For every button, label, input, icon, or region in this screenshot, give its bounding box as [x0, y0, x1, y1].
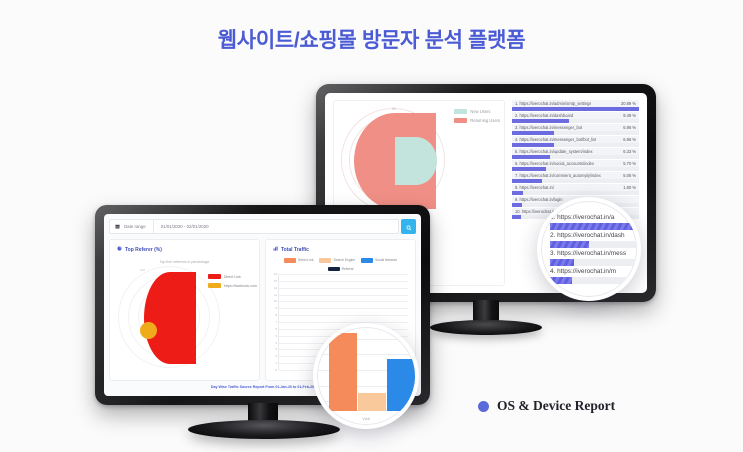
page-bar-fill: [512, 107, 639, 111]
top-referer-card: Top Referer (%) Top five referrers in pe…: [109, 239, 260, 381]
page-bar-fill: [512, 191, 523, 195]
magnified-bar-track: [550, 241, 636, 248]
page-percent: 5.70 %: [619, 161, 636, 166]
search-button[interactable]: [401, 219, 416, 234]
magnified-list-item: 2. https://iverochat.in/dash: [550, 232, 637, 248]
magnified-bar-fill: [550, 223, 636, 230]
card-title: Top Referer (%): [125, 247, 162, 253]
y-tick: 6: [275, 327, 277, 331]
y-tick: 12: [274, 286, 277, 290]
magnified-bar-fill: [550, 277, 572, 284]
y-axis: 14 13 12 11 10 9 8 7 6 5 4 3 2: [268, 274, 278, 370]
magnified-list-item: 4. https://iverochat.in/m: [550, 268, 637, 284]
y-tick: 11: [274, 293, 277, 297]
search-icon: [406, 218, 412, 236]
legend-item-direct-link: Direct Link: [284, 258, 314, 263]
donut-tick-label: 50: [392, 107, 396, 111]
back-monitor-base: [430, 320, 542, 335]
calendar-icon: [115, 224, 120, 230]
page-bar-track: [512, 179, 639, 183]
page-percent: 1.80 %: [619, 185, 636, 190]
legend-swatch-new-users: [454, 109, 467, 114]
magnifier-total-traffic: Visit: [313, 323, 419, 429]
facebook-slice: [140, 322, 157, 339]
pie-chart-icon: [117, 246, 122, 253]
magnified-bar-fill: [550, 241, 589, 248]
legend-label-search-engine: Search Engine: [333, 258, 355, 262]
visitors-legend: New Users Returning Users: [454, 109, 500, 127]
y-tick: 0: [275, 368, 277, 372]
page-bar-fill: [512, 179, 542, 183]
magnified-bar-search-engine: [358, 393, 386, 411]
legend-label-social-network: Social Network: [375, 258, 397, 262]
date-range-label: Date range: [124, 224, 146, 229]
legend-swatch-returning-users: [454, 118, 467, 123]
screenshot-root: 웹사이트/쇼핑몰 방문자 분석 플랫폼 50: [0, 0, 743, 452]
page-url: 2. https://iverochat.in/dashboard: [515, 113, 573, 118]
legend-label-facebook: https://facebook.com: [224, 284, 257, 288]
y-tick: 2: [275, 354, 277, 358]
legend-item-facebook: https://facebook.com: [208, 283, 257, 288]
page-url: 7. https://iverochat.in/comment_autorepl…: [515, 173, 601, 178]
y-tick: 13: [274, 279, 277, 283]
y-tick: 10: [274, 299, 277, 303]
magnifier-top-pages: 1. https://iverochat.in/a 2. https://ive…: [537, 197, 641, 301]
page-url: 4. https://iverochat.in/messenger_bot/bo…: [515, 137, 596, 142]
table-row[interactable]: 4. https://iverochat.in/messenger_bot/bo…: [512, 136, 639, 147]
date-range-value: 01/01/2020 - 02/01/2020: [161, 224, 209, 229]
table-row[interactable]: 1. https://iverochat.in/admin/smtp_setti…: [512, 100, 639, 111]
legend-item-direct-link: Direct Link: [208, 274, 257, 279]
magnified-url: 1. https://iverochat.in/a: [550, 214, 637, 221]
legend-swatch-social-network: [361, 258, 373, 263]
magnified-axis-label: Visit: [362, 416, 369, 421]
page-bar-fill: [512, 215, 521, 219]
date-range-input[interactable]: Date range 01/01/2020 - 02/01/2020: [109, 219, 399, 234]
legend-item-returning-users: Returning Users: [454, 118, 500, 123]
page-percent: 6.96 %: [619, 137, 636, 142]
page-bar-fill: [512, 155, 550, 159]
magnified-url: 4. https://iverochat.in/m: [550, 268, 637, 275]
page-url: 9. https://iverochat.in/login: [515, 197, 563, 202]
table-row[interactable]: 5. https://iverochat.in/update_system/in…: [512, 148, 639, 159]
y-tick: 5: [275, 334, 277, 338]
table-row[interactable]: 6. https://iverochat.in/social_accounts/…: [512, 160, 639, 171]
legend-swatch-referral: [328, 267, 340, 272]
magnified-bar-track: [550, 277, 636, 284]
legend-item-referral: Referral: [328, 267, 354, 272]
page-percent: 20.89 %: [617, 101, 636, 106]
bar-chart-icon: [273, 246, 278, 253]
page-bar-track: [512, 155, 639, 159]
os-device-report-caption: OS & Device Report: [478, 398, 615, 414]
pie-tick-label: 100: [140, 268, 145, 272]
page-bar-track: [512, 143, 639, 147]
total-traffic-legend: Direct Link Search Engine Social Network: [273, 258, 408, 271]
new-vs-returning-donut: 50: [340, 107, 450, 217]
page-percent: 9.49 %: [619, 113, 636, 118]
page-bar-fill: [512, 131, 554, 135]
magnified-bar-track: [550, 259, 636, 266]
card-title: Total Traffic: [281, 247, 309, 253]
page-bar-fill: [512, 167, 546, 171]
direct-link-slice: [144, 272, 196, 364]
page-bar-track: [512, 167, 639, 171]
page-title: 웹사이트/쇼핑몰 방문자 분석 플랫폼: [0, 24, 743, 54]
table-row[interactable]: 3. https://iverochat.in/messenger_bot6.9…: [512, 124, 639, 135]
top-referer-subtitle: Top five referrers in percentage: [117, 260, 252, 264]
bullet-icon: [478, 401, 489, 412]
y-tick: 1: [275, 361, 277, 365]
legend-label-referral: Referral: [342, 267, 354, 271]
legend-label-direct-link: Direct Link: [224, 275, 241, 279]
page-bar-track: [512, 131, 639, 135]
legend-item-social-network: Social Network: [361, 258, 397, 263]
table-row[interactable]: 8. https://iverochat.in/1.80 %: [512, 184, 639, 195]
page-bar-track: [512, 107, 639, 111]
magnified-url: 3. https://iverochat.in/mess: [550, 250, 637, 257]
page-percent: 6.96 %: [619, 125, 636, 130]
caption-text: OS & Device Report: [497, 398, 615, 414]
page-url: 5. https://iverochat.in/update_system/in…: [515, 149, 593, 154]
page-percent: 5.06 %: [619, 173, 636, 178]
page-bar-track: [512, 191, 639, 195]
magnified-list-item: 1. https://iverochat.in/a: [550, 214, 637, 230]
page-bar-fill: [512, 203, 522, 207]
page-bar-fill: [512, 143, 554, 147]
page-url: 6. https://iverochat.in/social_accounts/…: [515, 161, 594, 166]
legend-label-returning-users: Returning Users: [470, 118, 500, 123]
magnified-list-item: 3. https://iverochat.in/mess: [550, 250, 637, 266]
toolbar-divider: [153, 220, 154, 233]
y-tick: 9: [275, 306, 277, 310]
legend-item-search-engine: Search Engine: [319, 258, 355, 263]
page-percent: 6.33 %: [619, 149, 636, 154]
page-bar-track: [512, 119, 639, 123]
top-referer-legend: Direct Link https://facebook.com: [208, 274, 257, 292]
magnified-bar-direct-link: [329, 333, 357, 411]
new-users-slice: [395, 137, 437, 185]
y-tick: 4: [275, 341, 277, 345]
table-row[interactable]: 2. https://iverochat.in/dashboard9.49 %: [512, 112, 639, 123]
total-traffic-title-row: Total Traffic: [273, 246, 408, 253]
magnified-bar-social-network: [387, 359, 415, 411]
y-tick: 8: [275, 313, 277, 317]
magnified-url: 2. https://iverochat.in/dash: [550, 232, 637, 239]
page-url: 1. https://iverochat.in/admin/smtp_setti…: [515, 101, 591, 106]
legend-swatch-direct-link: [208, 274, 221, 279]
y-tick: 7: [275, 320, 277, 324]
legend-label-direct-link: Direct Link: [298, 258, 314, 262]
legend-swatch-direct-link: [284, 258, 296, 263]
legend-swatch-facebook: [208, 283, 221, 288]
top-referer-pie: 100: [118, 266, 222, 370]
legend-swatch-search-engine: [319, 258, 331, 263]
legend-label-new-users: New Users: [470, 109, 490, 114]
page-url: 3. https://iverochat.in/messenger_bot: [515, 125, 582, 130]
page-bar-fill: [512, 119, 569, 123]
table-row[interactable]: 7. https://iverochat.in/comment_autorepl…: [512, 172, 639, 183]
page-url: 8. https://iverochat.in/: [515, 185, 554, 190]
y-tick: 14: [274, 272, 277, 276]
legend-item-new-users: New Users: [454, 109, 500, 114]
dashboard-toolbar: Date range 01/01/2020 - 02/01/2020: [109, 219, 416, 234]
magnified-bar-fill: [550, 259, 574, 266]
y-tick: 3: [275, 347, 277, 351]
top-referer-title-row: Top Referer (%): [117, 246, 252, 253]
magnified-bar-track: [550, 223, 636, 230]
